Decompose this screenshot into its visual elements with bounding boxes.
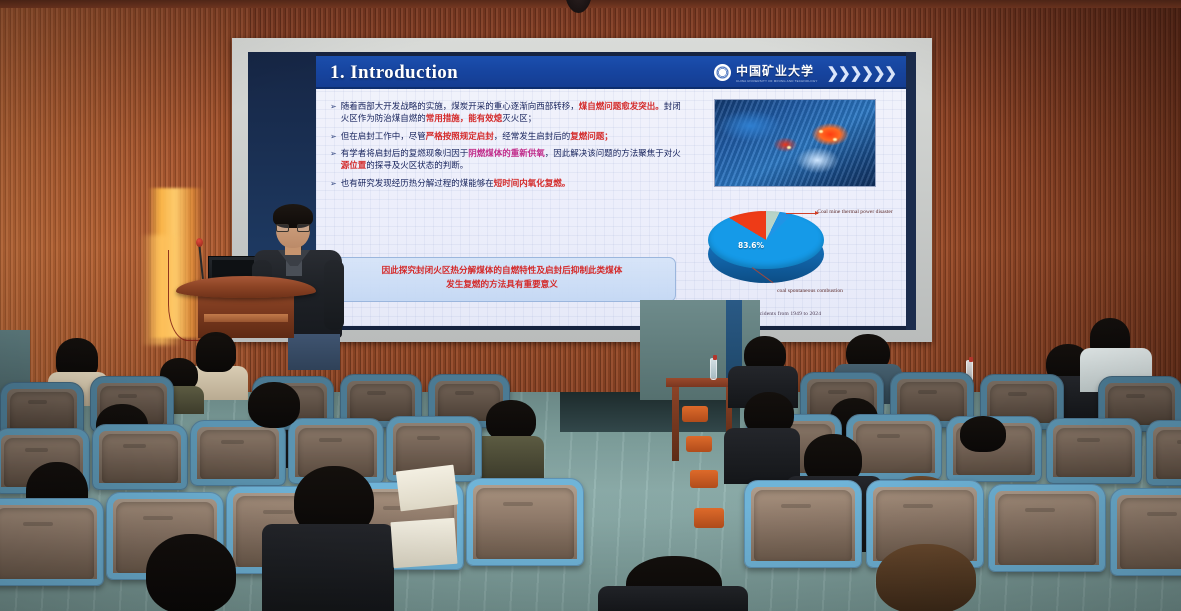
auditorium-seat[interactable]: [988, 484, 1106, 572]
side-chair[interactable]: [682, 406, 708, 422]
auditorium-seat[interactable]: [466, 478, 584, 566]
audience-body: [262, 524, 394, 611]
handout-paper: [396, 465, 458, 512]
ceiling-band: [0, 0, 1181, 8]
conclusion-line-2: 发生复燃的方法具有重要意义: [335, 279, 669, 293]
university-brand: 中国矿业大学 CHINA UNIVERSITY OF MINING AND TE…: [714, 62, 906, 83]
auditorium-seat[interactable]: [744, 480, 862, 568]
slide-bullet-list: ➢ 随着西部大开发战略的实施，煤炭开采的重心逐渐向西部转移，煤自燃问题愈发突出。…: [330, 101, 682, 195]
bullet-text: 也有研究发现经历热分解过程的煤能够在短时间内氧化复燃。: [341, 178, 571, 190]
list-item: ➢ 但在启封工作中，尽管严格按照规定启封，经常发生启封后的复燃问题；: [330, 131, 682, 143]
projection-screen[interactable]: 1. Introduction 中国矿业大学 CHINA UNIVERSITY …: [248, 52, 916, 330]
coal-fire-infrared-photo: [714, 99, 876, 187]
podium-top: [176, 276, 316, 298]
audience-head: [196, 336, 234, 372]
auditorium-seat[interactable]: [92, 424, 188, 490]
bullet-marker-icon: ➢: [330, 131, 337, 143]
screen-unused-right: [906, 52, 916, 330]
bullet-text: 但在启封工作中，尽管严格按照规定启封，经常发生启封后的复燃问题；: [341, 131, 613, 143]
hotspot-icon: [819, 130, 823, 133]
auditorium-seat[interactable]: [1110, 488, 1181, 576]
auditorium-seat[interactable]: [190, 420, 286, 486]
auditorium-seat[interactable]: [1046, 418, 1142, 484]
list-item: ➢ 有学者将启封后的复燃现象归因于阴燃煤体的重新供氧，因此解决该问题的方法聚焦于…: [330, 148, 682, 173]
bullet-marker-icon: ➢: [330, 148, 337, 160]
pie-callout-label-1: Coal mine thermal power disaster: [816, 209, 894, 217]
slide-title: 1. Introduction: [316, 62, 458, 84]
pie-callout-label-2: coal spontaneous combustion: [762, 288, 858, 296]
audience-head: [248, 382, 300, 428]
bullet-text: 随着西部大开发战略的实施，煤炭开采的重心逐渐向西部转移，煤自燃问题愈发突出。封闭…: [341, 101, 682, 126]
chevron-right-icon: ❯❯❯❯❯❯: [827, 64, 896, 82]
glasses-icon: [276, 224, 310, 232]
pie-3d-top: [708, 211, 824, 269]
bullet-marker-icon: ➢: [330, 101, 337, 113]
university-name: 中国矿业大学: [736, 64, 814, 78]
audience-head: [960, 416, 1006, 452]
hotspot-icon: [833, 138, 837, 141]
presentation-slide[interactable]: 1. Introduction 中国矿业大学 CHINA UNIVERSITY …: [316, 56, 906, 326]
list-item: ➢ 随着西部大开发战略的实施，煤炭开采的重心逐渐向西部转移，煤自燃问题愈发突出。…: [330, 101, 682, 126]
handout-paper: [390, 518, 457, 568]
bullet-marker-icon: ➢: [330, 178, 337, 190]
audience-body: [598, 586, 748, 611]
slide-body: ➢ 随着西部大开发战略的实施，煤炭开采的重心逐渐向西部转移，煤自燃问题愈发突出。…: [316, 89, 906, 326]
university-seal-icon: [714, 64, 731, 81]
presenter-legs: [288, 334, 340, 370]
side-chair[interactable]: [690, 470, 718, 488]
hotspot-icon: [787, 146, 791, 149]
list-item: ➢ 也有研究发现经历热分解过程的煤能够在短时间内氧化复燃。: [330, 178, 682, 190]
water-bottle: [710, 358, 717, 380]
wooden-podium: [176, 276, 316, 338]
pie-callout-arrow-icon: [786, 213, 818, 214]
desk-leg: [672, 387, 679, 461]
auditorium-seat[interactable]: [0, 498, 104, 586]
pie-data-label: 83.6%: [738, 241, 764, 250]
audience-head: [876, 544, 976, 611]
podium-plate: [204, 314, 288, 322]
lecture-hall-screenshot: 1. Introduction 中国矿业大学 CHINA UNIVERSITY …: [0, 0, 1181, 611]
slide-conclusion-callout: 因此探究封闭火区热分解煤体的自燃特性及启封后抑制此类煤体 发生复燃的方法具有重要…: [328, 257, 676, 302]
side-chair[interactable]: [694, 508, 724, 528]
conclusion-line-1: 因此探究封闭火区热分解煤体的自燃特性及启封后抑制此类煤体: [335, 265, 669, 279]
presenter-arm-right: [324, 260, 344, 330]
audience-body: [724, 428, 800, 484]
side-chair[interactable]: [686, 436, 712, 452]
auditorium-seat[interactable]: [1146, 420, 1181, 486]
microphone-icon: [196, 238, 203, 247]
bullet-text: 有学者将启封后的复燃现象归因于阴燃煤体的重新供氧，因此解决该问题的方法聚焦于对火…: [341, 148, 682, 173]
audience-head: [146, 534, 236, 611]
slide-header: 1. Introduction 中国矿业大学 CHINA UNIVERSITY …: [316, 56, 906, 89]
university-name-english: CHINA UNIVERSITY OF MINING AND TECHNOLOG…: [736, 79, 818, 83]
